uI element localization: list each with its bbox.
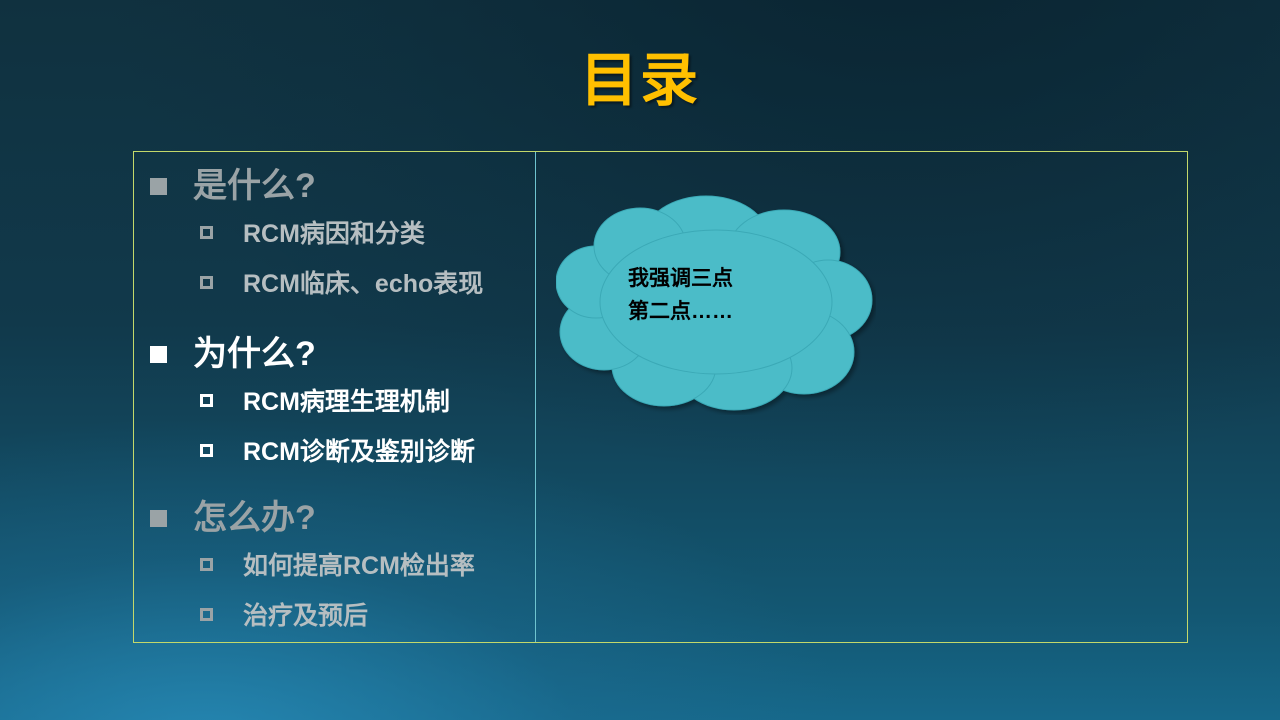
outline-item-3-1[interactable]: 如何提高RCM检出率 — [133, 541, 535, 591]
cloud-callout[interactable]: 我强调三点 第二点…… — [556, 190, 876, 415]
cloud-callout-line-2: 第二点…… — [628, 295, 733, 328]
outline-section-2[interactable]: 为什么? RCM病理生理机制 RCM诊断及鉴别诊断 — [133, 331, 535, 477]
column-divider — [535, 152, 536, 642]
outline-item-2-1[interactable]: RCM病理生理机制 — [133, 377, 535, 427]
filled-square-bullet-icon — [150, 178, 167, 195]
outline-section-1[interactable]: 是什么? RCM病因和分类 RCM临床、echo表现 — [133, 163, 535, 309]
presentation-slide: 目录 是什么? RCM病因和分类 RCM临床、echo表现 为什么? — [0, 0, 1280, 720]
page-title: 目录 — [0, 52, 1280, 110]
outline-item-3-2[interactable]: 治疗及预后 — [133, 591, 535, 641]
hollow-square-bullet-icon — [200, 226, 213, 239]
hollow-square-bullet-icon — [200, 608, 213, 621]
outline-section-2-heading: 为什么? — [193, 331, 316, 377]
hollow-square-bullet-icon — [200, 394, 213, 407]
outline-item-3-1-label: 如何提高RCM检出率 — [243, 541, 475, 591]
outline-item-1-1-label: RCM病因和分类 — [243, 209, 425, 259]
outline-section-3-heading: 怎么办? — [193, 495, 316, 541]
outline-item-2-2[interactable]: RCM诊断及鉴别诊断 — [133, 427, 535, 477]
hollow-square-bullet-icon — [200, 558, 213, 571]
outline-item-1-2-label: RCM临床、echo表现 — [243, 259, 483, 309]
filled-square-bullet-icon — [150, 510, 167, 527]
outline-item-3-2-label: 治疗及预后 — [243, 591, 368, 641]
outline-list: 是什么? RCM病因和分类 RCM临床、echo表现 为什么? RCM病理生理机… — [133, 151, 535, 643]
outline-item-1-2[interactable]: RCM临床、echo表现 — [133, 259, 535, 309]
outline-section-1-header[interactable]: 是什么? — [133, 163, 535, 209]
cloud-callout-line-1: 我强调三点 — [628, 262, 733, 295]
outline-item-2-1-label: RCM病理生理机制 — [243, 377, 450, 427]
outline-section-1-heading: 是什么? — [193, 163, 316, 209]
hollow-square-bullet-icon — [200, 276, 213, 289]
outline-section-3[interactable]: 怎么办? 如何提高RCM检出率 治疗及预后 — [133, 495, 535, 641]
outline-section-3-header[interactable]: 怎么办? — [133, 495, 535, 541]
outline-item-1-1[interactable]: RCM病因和分类 — [133, 209, 535, 259]
cloud-callout-text: 我强调三点 第二点…… — [628, 262, 733, 328]
outline-section-2-header[interactable]: 为什么? — [133, 331, 535, 377]
hollow-square-bullet-icon — [200, 444, 213, 457]
outline-item-2-2-label: RCM诊断及鉴别诊断 — [243, 427, 475, 477]
filled-square-bullet-icon — [150, 346, 167, 363]
